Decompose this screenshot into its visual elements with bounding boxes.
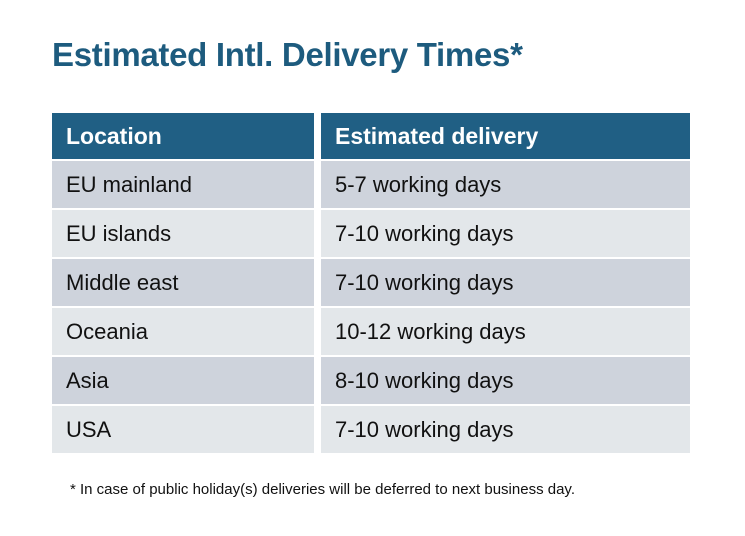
cell-location: EU mainland <box>52 161 314 208</box>
cell-estimated-delivery: 7-10 working days <box>321 210 690 257</box>
cell-location: Oceania <box>52 308 314 355</box>
cell-location: EU islands <box>52 210 314 257</box>
table-row: EU mainland 5-7 working days <box>52 161 690 208</box>
cell-location: Middle east <box>52 259 314 306</box>
cell-location: USA <box>52 406 314 453</box>
delivery-times-table: Location Estimated delivery EU mainland … <box>52 113 690 453</box>
cell-estimated-delivery: 10-12 working days <box>321 308 690 355</box>
table-row: EU islands 7-10 working days <box>52 210 690 257</box>
page-title: Estimated Intl. Delivery Times* <box>52 36 523 74</box>
cell-estimated-delivery: 8-10 working days <box>321 357 690 404</box>
cell-estimated-delivery: 7-10 working days <box>321 406 690 453</box>
table-row: USA 7-10 working days <box>52 406 690 453</box>
cell-location: Asia <box>52 357 314 404</box>
table-header-row: Location Estimated delivery <box>52 113 690 159</box>
cell-estimated-delivery: 5-7 working days <box>321 161 690 208</box>
table-row: Middle east 7-10 working days <box>52 259 690 306</box>
column-header-location: Location <box>52 113 314 159</box>
footnote: * In case of public holiday(s) deliverie… <box>70 481 575 498</box>
delivery-times-card: Estimated Intl. Delivery Times* Location… <box>0 0 745 536</box>
column-header-estimated-delivery: Estimated delivery <box>321 113 690 159</box>
table-row: Asia 8-10 working days <box>52 357 690 404</box>
cell-estimated-delivery: 7-10 working days <box>321 259 690 306</box>
table-row: Oceania 10-12 working days <box>52 308 690 355</box>
